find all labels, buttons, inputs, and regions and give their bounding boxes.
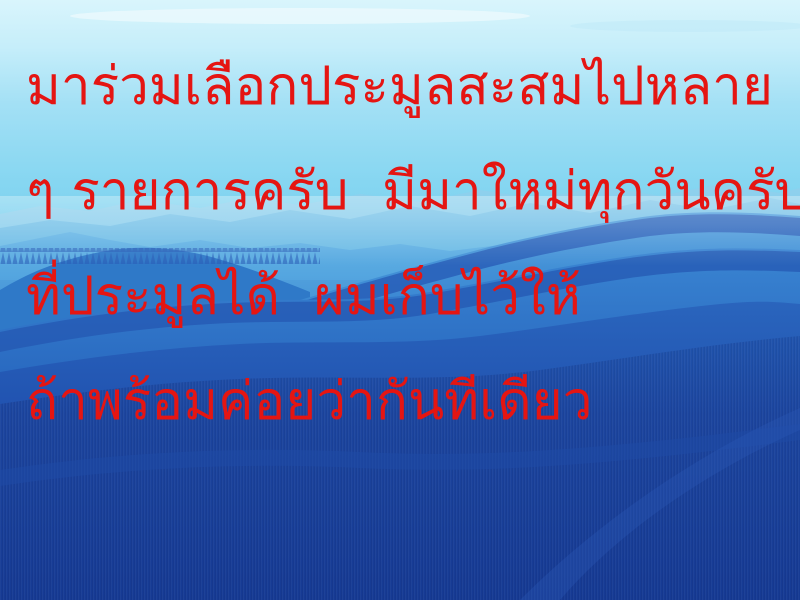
cloud-wisp-2 [570,20,800,32]
mountain-landscape-photo [0,0,800,600]
atmospheric-haze [0,196,800,266]
thai-auction-banner: มาร่วมเลือกประมูลสะสมไปหลาย ๆ รายการครับ… [0,0,800,600]
cloud-wisp [70,8,530,24]
